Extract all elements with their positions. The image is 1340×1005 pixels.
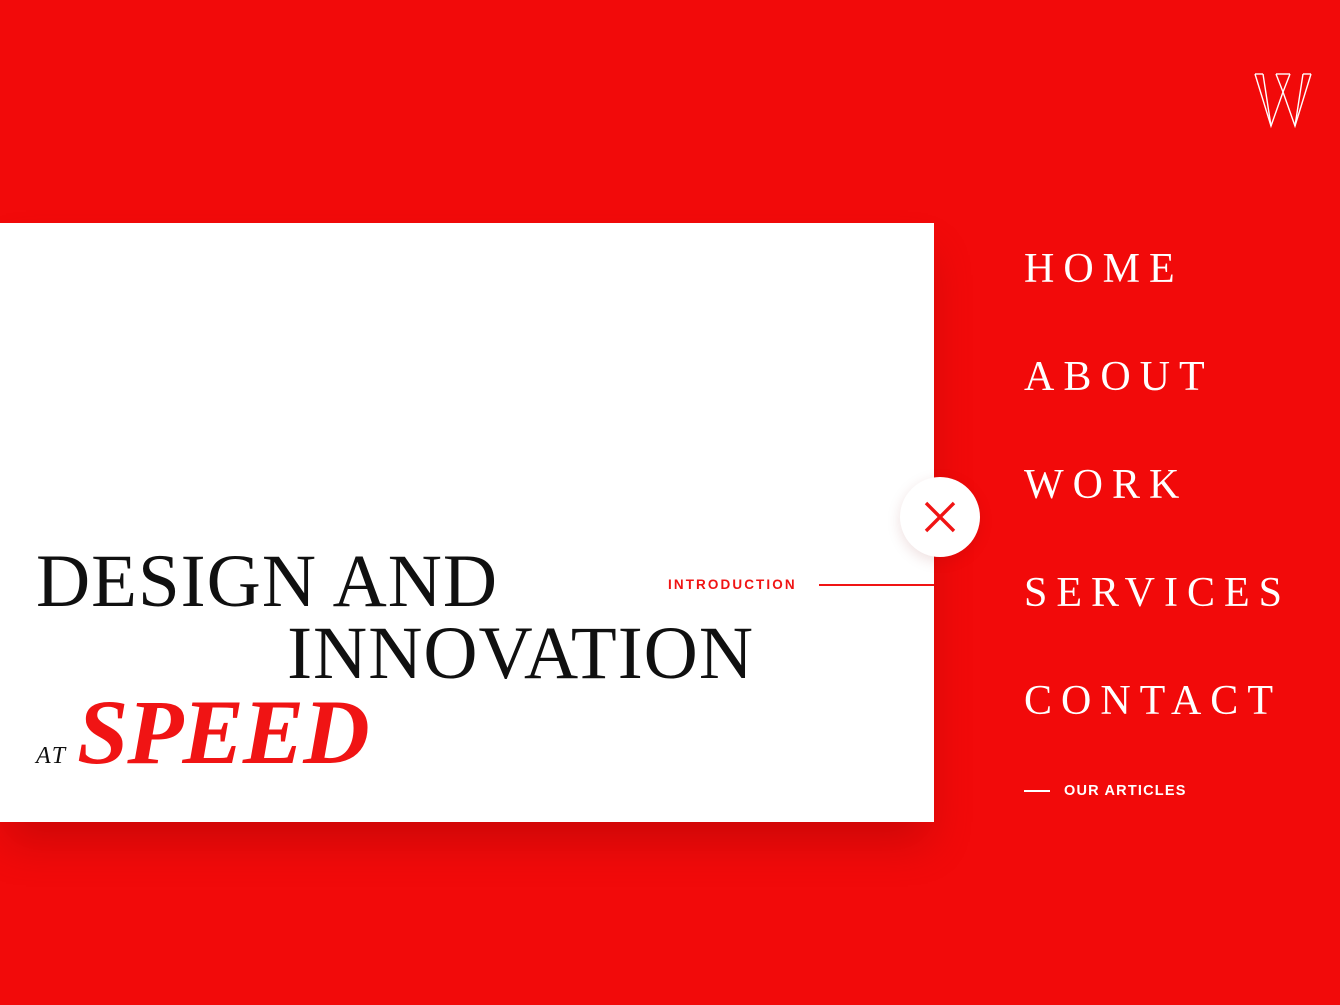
dash-icon [1024,790,1050,792]
w-monogram-logo[interactable] [1249,66,1317,134]
section-label-rule [819,584,934,586]
close-button[interactable] [900,477,980,557]
nav-item-services[interactable]: SERVICES [1024,572,1324,614]
headline-accent-word: SPEED [77,686,369,778]
headline-prefix: AT [36,743,67,770]
headline-line-3: AT SPEED [36,686,766,778]
w-monogram-icon [1249,66,1317,134]
our-articles-link[interactable]: OUR ARTICLES [1024,783,1187,799]
hero-panel: DESIGN AND INNOVATION AT SPEED INTRODUCT… [0,223,934,822]
section-label-row: INTRODUCTION [668,577,934,592]
headline-line-2: INNOVATION [36,618,766,690]
main-navigation: HOME ABOUT WORK SERVICES CONTACT [1024,248,1324,722]
page-title: DESIGN AND INNOVATION AT SPEED [36,546,766,778]
headline-line-1: DESIGN AND [36,546,766,618]
nav-item-about[interactable]: ABOUT [1024,356,1324,398]
section-label: INTRODUCTION [668,577,797,592]
nav-item-contact[interactable]: CONTACT [1024,680,1324,722]
nav-item-home[interactable]: HOME [1024,248,1324,290]
our-articles-label: OUR ARTICLES [1064,783,1187,799]
close-icon [900,477,980,557]
nav-item-work[interactable]: WORK [1024,464,1324,506]
